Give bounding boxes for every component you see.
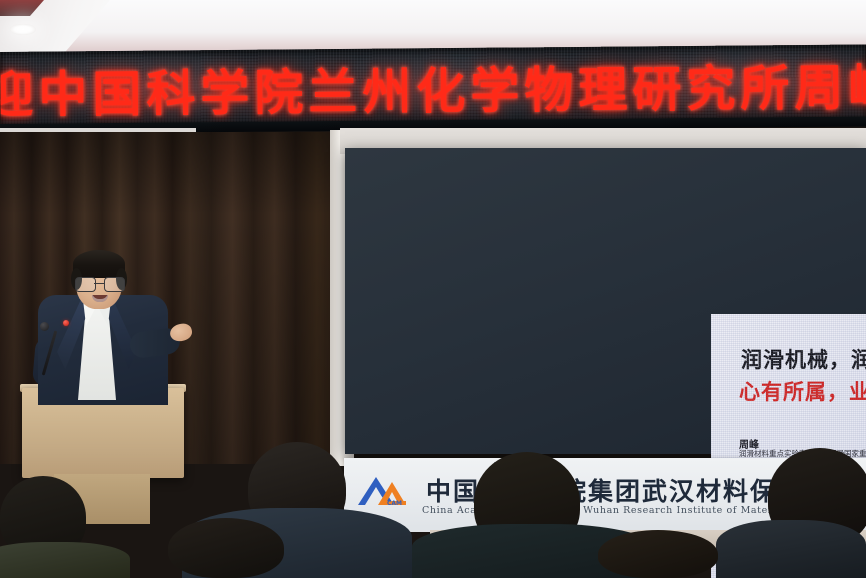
cam-logo-icon: CAM <box>356 474 418 508</box>
glasses-lens-left <box>75 277 96 292</box>
slide-title-sub: 心有所属，业有所成 <box>739 376 866 406</box>
slide-title-main: 润滑机械，润滑人生 <box>741 344 866 374</box>
glasses-lens-right <box>104 277 125 292</box>
audience-head <box>598 530 718 578</box>
lapel-pin-icon <box>63 320 69 326</box>
led-banner-text: 迎中国科学院兰州化学物理研究所周峰 <box>0 52 866 122</box>
lecture-hall-photo: 迎中国科学院兰州化学物理研究所周峰 润滑机械，润滑人生 心有所属，业有所成 周峰… <box>0 0 866 578</box>
microphone-icon <box>40 322 49 331</box>
glasses-bridge <box>94 283 105 284</box>
audience-head <box>168 518 284 578</box>
svg-text:CAM: CAM <box>387 500 402 507</box>
glasses-icon <box>75 277 124 290</box>
audience-shoulders <box>0 542 130 578</box>
ceiling-downlight-icon <box>10 24 36 35</box>
projection-screen-frame: 润滑机械，润滑人生 心有所属，业有所成 周峰 润滑材料重点实验室（固体润滑国家重… <box>345 148 866 454</box>
audience-shoulders <box>716 520 866 578</box>
